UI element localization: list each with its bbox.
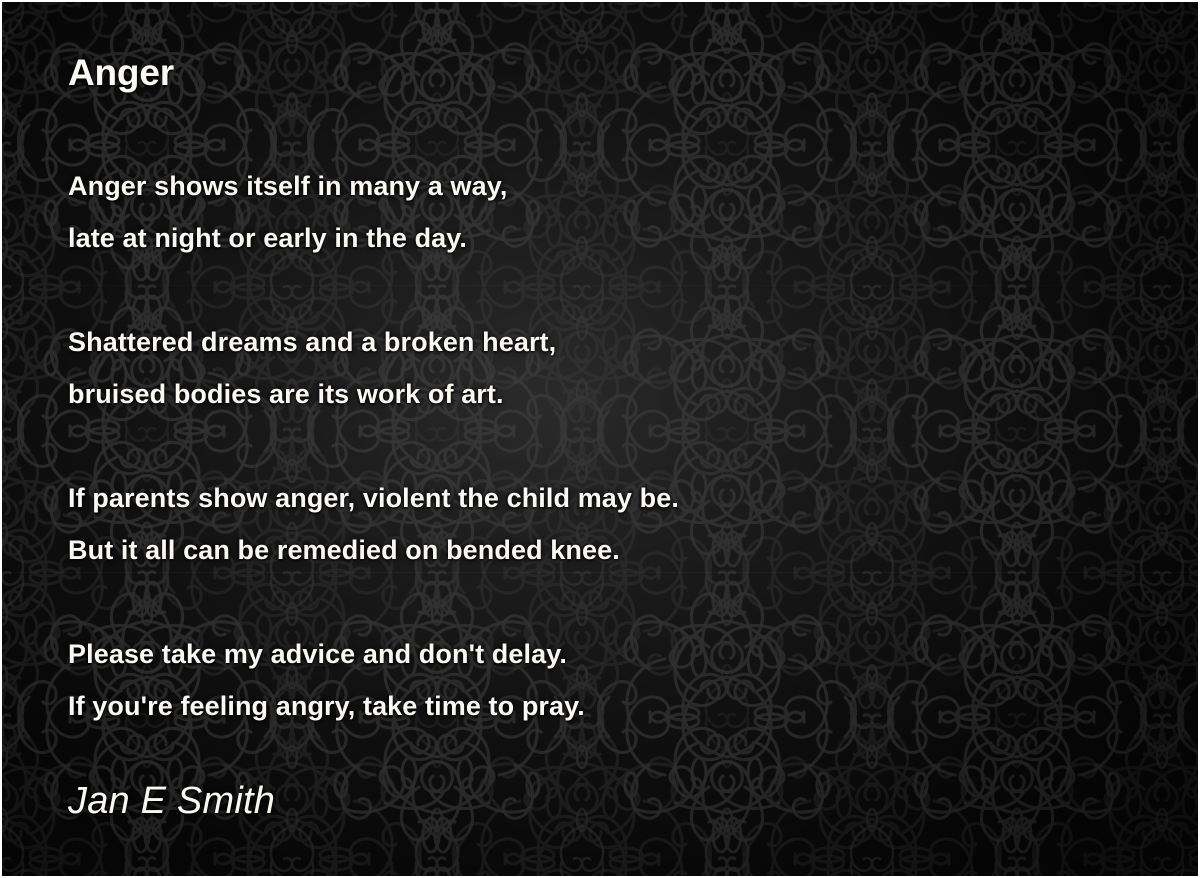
poem-line: bruised bodies are its work of art. [68, 368, 1128, 420]
poem-content: Anger Anger shows itself in many a way,l… [2, 2, 1198, 876]
poem-author-signature: Jan E Smith [68, 780, 275, 823]
poem-line: But it all can be remedied on bended kne… [68, 524, 1128, 576]
poem-stanza: Anger shows itself in many a way,late at… [68, 160, 1128, 264]
poem-line: Shattered dreams and a broken heart, [68, 316, 1128, 368]
poem-line: If parents show anger, violent the child… [68, 472, 1128, 524]
poem-line: If you're feeling angry, take time to pr… [68, 680, 1128, 732]
poem-stanza: If parents show anger, violent the child… [68, 472, 1128, 576]
poem-line: Anger shows itself in many a way, [68, 160, 1128, 212]
poem-stanza: Shattered dreams and a broken heart,brui… [68, 316, 1128, 420]
poem-stanza: Please take my advice and don't delay.If… [68, 628, 1128, 732]
poem-line: late at night or early in the day. [68, 212, 1128, 264]
poem-line: Please take my advice and don't delay. [68, 628, 1128, 680]
poem-title: Anger [68, 52, 174, 94]
poem-card: Anger Anger shows itself in many a way,l… [0, 0, 1200, 878]
poem-stanzas: Anger shows itself in many a way,late at… [68, 160, 1128, 732]
